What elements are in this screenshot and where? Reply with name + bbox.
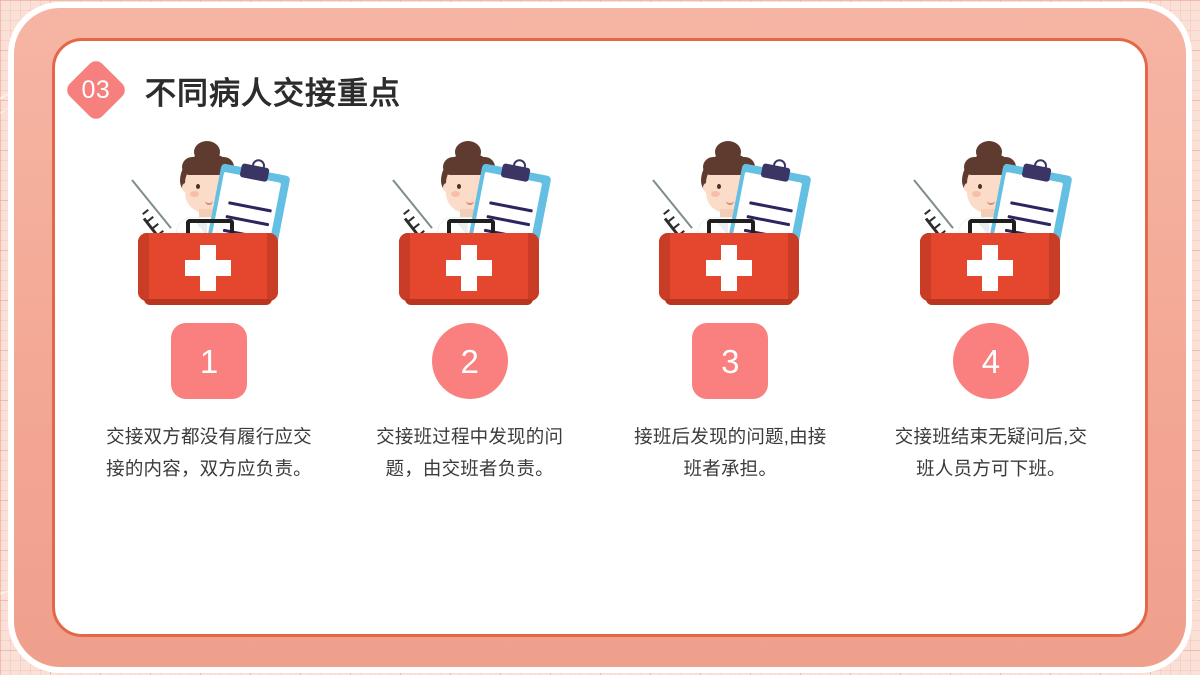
- list-item[interactable]: 4 交接班结束无疑问后,交班人员方可下班。: [867, 141, 1115, 486]
- item-caption: 交接班过程中发现的问题，由交班者负责。: [365, 421, 575, 486]
- page-title: 不同病人交接重点: [145, 68, 401, 113]
- nurse-first-aid-illustration-icon: [896, 141, 1086, 303]
- item-number-badge: 3: [692, 323, 768, 399]
- item-caption: 交接双方都没有履行应交接的内容，双方应负责。: [104, 421, 314, 486]
- list-item[interactable]: 1 交接双方都没有履行应交接的内容，双方应负责。: [85, 141, 333, 486]
- items-row: 1 交接双方都没有履行应交接的内容，双方应负责。: [85, 141, 1115, 486]
- slide-content-card: 03 不同病人交接重点: [52, 38, 1148, 637]
- nurse-first-aid-illustration-icon: [635, 141, 825, 303]
- nurse-first-aid-illustration-icon: [375, 141, 565, 303]
- item-caption: 交接班结束无疑问后,交班人员方可下班。: [886, 421, 1096, 486]
- slide-frame-band: 03 不同病人交接重点: [14, 8, 1186, 667]
- section-number-label: 03: [82, 78, 111, 103]
- slide: 03 不同病人交接重点: [0, 0, 1200, 675]
- list-item[interactable]: 2 交接班过程中发现的问题，由交班者负责。: [346, 141, 594, 486]
- item-number-badge: 2: [432, 323, 508, 399]
- item-number-badge: 4: [953, 323, 1029, 399]
- slide-header: 03 不同病人交接重点: [73, 67, 401, 113]
- item-caption: 接班后发现的问题,由接班者承担。: [625, 421, 835, 486]
- section-number-badge: 03: [63, 57, 128, 122]
- item-number-badge: 1: [171, 323, 247, 399]
- nurse-first-aid-illustration-icon: [114, 141, 304, 303]
- list-item[interactable]: 3 接班后发现的问题,由接班者承担。: [606, 141, 854, 486]
